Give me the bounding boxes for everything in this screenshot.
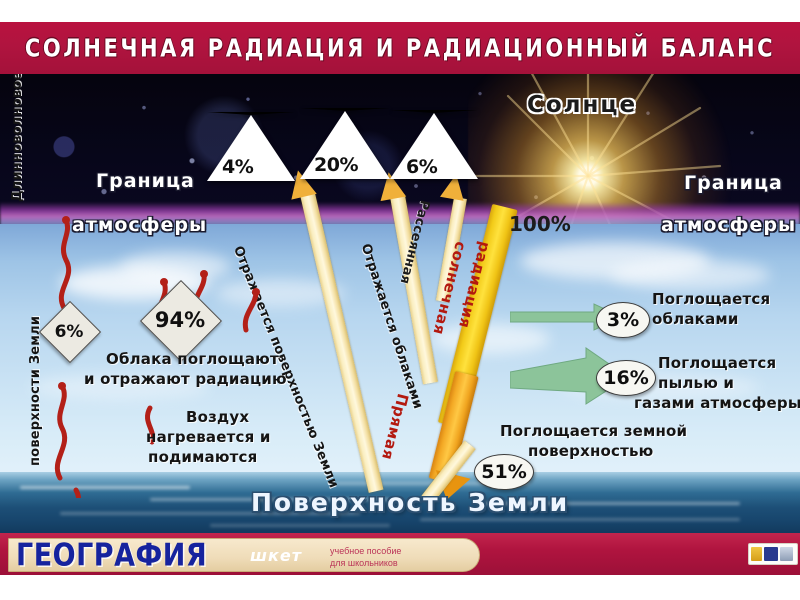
logo-wordmark-icon	[764, 547, 778, 561]
absorption-value: 3%	[607, 309, 639, 331]
footer-note-line2: для школьников	[330, 558, 398, 568]
absorption-value: 16%	[603, 367, 648, 389]
absorption-label-line2: пылью и	[658, 374, 734, 392]
air-note-line2: нагревается и	[146, 428, 271, 446]
diamond-large-value: 94%	[150, 308, 210, 332]
atmosphere-boundary-left-line2: атмосферы	[72, 214, 207, 236]
atmosphere-boundary-left-line1: Граница	[96, 170, 195, 192]
clouds-note-line2: и отражают радиацию	[84, 370, 287, 388]
logo-bar-icon	[780, 547, 793, 561]
absorption-label-line1: Поглощается земной	[500, 422, 687, 440]
surface-label: Поверхность Земли	[251, 488, 569, 517]
cloud	[120, 252, 230, 282]
footer-sub-brand: шкет	[250, 546, 302, 565]
absorption-badge: 16%	[596, 360, 656, 396]
header-band: СОЛНЕЧНАЯ РАДИАЦИЯ И РАДИАЦИОННЫЙ БАЛАНС	[0, 22, 800, 74]
absorption-badge: 51%	[474, 454, 534, 490]
absorption-label-line3: газами атмосферы	[634, 394, 800, 412]
absorption-label-line2: облаками	[652, 310, 739, 328]
air-note-line1: Воздух	[186, 408, 249, 426]
page-title: СОЛНЕЧНАЯ РАДИАЦИЯ И РАДИАЦИОННЫЙ БАЛАНС	[25, 34, 775, 62]
absorption-label-line2: поверхностью	[528, 442, 653, 460]
absorption-label-line1: Поглощается	[652, 290, 770, 308]
atmosphere-boundary-right-line2: атмосферы	[661, 214, 796, 236]
escape-triangle-value: 20%	[314, 154, 358, 176]
publisher-logo	[748, 543, 798, 565]
diamond-small-value: 6%	[48, 322, 90, 342]
sun-label: Солнце	[527, 92, 637, 118]
clouds-note-line1: Облака поглощают	[106, 350, 279, 368]
longwave-vertical-label-line2: поверхности Земли	[28, 316, 43, 466]
footer-brand: ГЕОГРАФИЯ	[16, 538, 207, 574]
longwave-vertical-label-line1: Длинноволновое излучение	[10, 74, 25, 202]
absorption-label-line1: Поглощается	[658, 354, 776, 372]
incoming-total-value: 100%	[509, 212, 571, 236]
footer-note-line1: учебное пособие	[330, 546, 401, 556]
poster-root: СОЛНЕЧНАЯ РАДИАЦИЯ И РАДИАЦИОННЫЙ БАЛАНС…	[0, 0, 800, 600]
absorption-value: 51%	[481, 461, 526, 483]
atmosphere-boundary-right-line1: Граница	[684, 172, 783, 194]
logo-mark-icon	[751, 547, 762, 561]
escape-triangle-value: 4%	[222, 156, 253, 178]
escape-triangle-value: 6%	[406, 156, 437, 178]
absorption-badge: 3%	[596, 302, 650, 338]
cloud	[610, 260, 770, 290]
diagram-scene: Солнце	[0, 74, 800, 533]
air-note-line3: подимаются	[148, 448, 257, 466]
